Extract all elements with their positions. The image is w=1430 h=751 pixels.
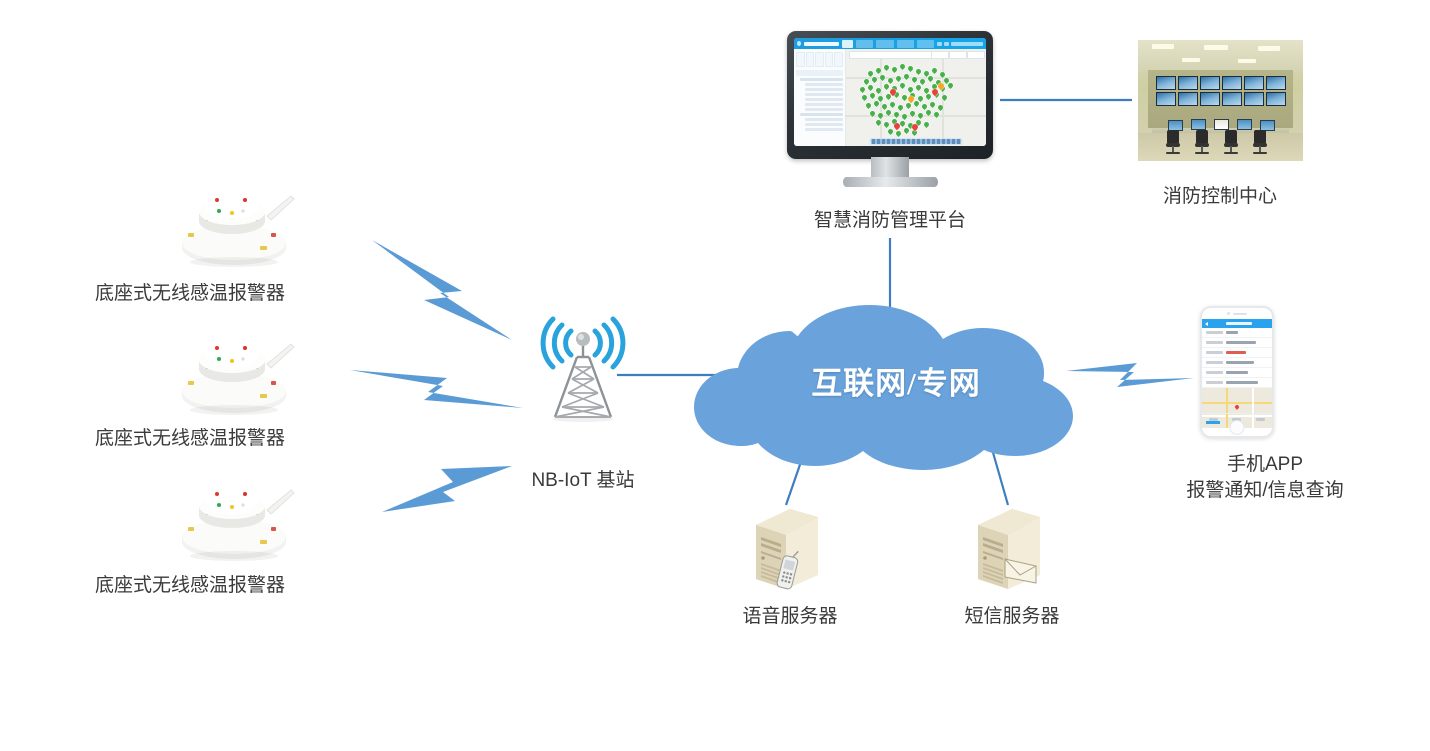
platform-bell-icon[interactable] (944, 42, 949, 46)
detail-row (1202, 368, 1272, 378)
chair (1223, 130, 1239, 156)
monitor-stand-base (843, 177, 938, 187)
wireless-bolt-sensor-2 (350, 370, 523, 408)
platform-sidebar[interactable] (794, 49, 846, 146)
platform-tree-node[interactable] (805, 108, 843, 111)
platform-tree-node[interactable] (805, 103, 843, 106)
sms-server-label: 短信服务器 (912, 604, 1112, 630)
sensor-device-1-label: 底座式无线感温报警器 (30, 281, 350, 307)
sensor-device-1[interactable] (172, 178, 302, 270)
detail-row (1202, 328, 1272, 338)
line-cloud-to-sms-server (986, 428, 1008, 505)
platform-stat-total (796, 52, 805, 67)
sms-server-icon[interactable] (972, 503, 1046, 593)
platform-tab-4[interactable] (917, 40, 934, 48)
app-header (1202, 319, 1272, 328)
wireless-bolt-mobile-app (1066, 363, 1194, 387)
base-station-icon[interactable] (533, 313, 633, 433)
home-button[interactable] (1230, 420, 1245, 435)
map-road (846, 115, 986, 117)
platform-stat-fault (825, 52, 834, 67)
mobile-app-label-line2: 报警通知/信息查询 (1140, 478, 1390, 504)
detail-row (1202, 378, 1272, 388)
platform-screen[interactable] (794, 38, 986, 146)
control-center-label: 消防控制中心 (1110, 184, 1330, 210)
sensor-device-2[interactable] (172, 326, 302, 418)
voice-server-label: 语音服务器 (690, 604, 890, 630)
detail-row (1202, 358, 1272, 368)
monitor-bezel (787, 31, 993, 159)
platform-map-filter-1[interactable] (931, 51, 949, 59)
platform-header-tools[interactable] (937, 42, 983, 46)
ceiling-light (1204, 45, 1228, 50)
platform-stat-offline (834, 52, 843, 67)
chair (1165, 130, 1181, 156)
platform-tab-2[interactable] (876, 40, 893, 48)
ceiling-light (1182, 58, 1200, 62)
ceiling-light (1152, 44, 1174, 49)
platform-map-search-input[interactable] (849, 51, 935, 59)
platform-tree-node[interactable] (800, 78, 843, 81)
desk-monitor (1214, 119, 1229, 130)
detail-row (1202, 348, 1272, 358)
chair (1252, 130, 1268, 156)
chair (1194, 130, 1210, 156)
platform-user-menu[interactable] (951, 42, 983, 46)
platform-map-filter-3[interactable] (967, 51, 985, 59)
detail-row (1202, 338, 1272, 348)
desk-monitor (1237, 119, 1252, 130)
video-wall (1156, 76, 1286, 106)
ceiling-light (1258, 46, 1280, 51)
platform-map[interactable] (846, 49, 986, 146)
platform-map-filter-2[interactable] (949, 51, 967, 59)
app-header-title (1226, 322, 1252, 325)
platform-logo-icon (797, 41, 801, 46)
platform-tab-0[interactable] (842, 40, 853, 48)
platform-tree-node[interactable] (805, 123, 843, 126)
tab-item[interactable] (1256, 418, 1265, 421)
line-cloud-to-voice-server (786, 430, 812, 505)
wireless-bolt-sensor-1 (372, 240, 512, 340)
platform-tree-node[interactable] (805, 118, 843, 121)
base-station-label: NB-IoT 基站 (468, 468, 698, 494)
control-center-photo[interactable] (1138, 40, 1303, 161)
platform-stat-online (806, 52, 815, 67)
topology-diagram: 互联网/专网 (0, 0, 1430, 751)
platform-tree-node[interactable] (800, 113, 843, 116)
platform-tree-node[interactable] (805, 83, 843, 86)
sensor-device-3[interactable] (172, 472, 302, 564)
monitor-stand-neck (871, 157, 909, 179)
platform-stat-row (796, 52, 843, 67)
cloud-label: 互联网/专网 (806, 358, 986, 403)
mobile-app-phone[interactable] (1200, 306, 1274, 438)
back-arrow-icon[interactable] (1205, 322, 1208, 326)
ceiling-light (1238, 59, 1256, 63)
platform-globe-icon[interactable] (937, 42, 942, 46)
platform-tab-3[interactable] (897, 40, 914, 48)
platform-tree-node[interactable] (805, 93, 843, 96)
platform-stat-alarm (815, 52, 824, 67)
sensor-device-3-label: 底座式无线感温报警器 (30, 573, 350, 599)
sensor-device-2-label: 底座式无线感温报警器 (30, 426, 350, 452)
speaker-grill (1233, 313, 1247, 315)
platform-tree-node[interactable] (805, 98, 843, 101)
platform-tree-node[interactable] (805, 128, 843, 131)
platform-tab-1[interactable] (856, 40, 873, 48)
phone-earpiece (1202, 308, 1272, 319)
platform-app-header (794, 38, 986, 49)
desk-monitor (1191, 119, 1206, 130)
tab-item[interactable] (1209, 418, 1218, 421)
platform-body (794, 49, 986, 146)
floor (1138, 133, 1303, 161)
mobile-app-label-line1: 手机APP (1140, 452, 1390, 478)
platform-tree-node[interactable] (805, 88, 843, 91)
platform-app-title (804, 42, 839, 46)
platform-map-toolbar[interactable] (870, 138, 963, 145)
voice-server-icon[interactable] (750, 503, 824, 593)
platform-label: 智慧消防管理平台 (770, 208, 1010, 234)
front-camera-icon (1227, 312, 1230, 315)
platform-tree-header (796, 70, 843, 76)
